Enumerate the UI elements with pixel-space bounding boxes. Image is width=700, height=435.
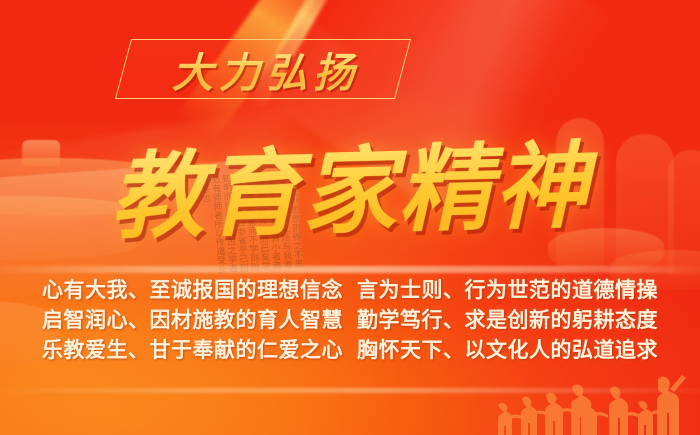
slogan-line: 启智润心、因材施教的育人智慧: [42, 306, 343, 333]
page-title: 教育家精神: [0, 119, 700, 264]
slogan-line: 勤学笃行、求是创新的躬耕态度: [357, 306, 658, 333]
slogan-line: 胸怀天下、以文化人的弘道追求: [357, 336, 658, 363]
slogan-column-right: 言为士则、行为世范的道德情操 勤学笃行、求是创新的躬耕态度 胸怀天下、以文化人的…: [357, 276, 658, 363]
slogan-line: 心有大我、至诚报国的理想信念: [42, 276, 343, 303]
teacher-and-children-silhouette-icon: [462, 373, 692, 435]
sub-banner-label: 大力弘扬: [123, 39, 403, 99]
horizontal-light-band: [0, 266, 700, 273]
slogan-line: 言为士则、行为世范的道德情操: [357, 276, 658, 303]
slogan-group: 心有大我、至诚报国的理想信念 启智润心、因材施教的育人智慧 乐教爱生、甘于奉献的…: [0, 276, 700, 363]
poster-banner: 心之官则思思则得之不思则不得也此天之所与我者先立乎其大者则其小者弗能夺也此为大人…: [0, 0, 700, 435]
slogan-line: 乐教爱生、甘于奉献的仁爱之心: [42, 336, 343, 363]
slogan-column-left: 心有大我、至诚报国的理想信念 启智润心、因材施教的育人智慧 乐教爱生、甘于奉献的…: [42, 276, 343, 363]
